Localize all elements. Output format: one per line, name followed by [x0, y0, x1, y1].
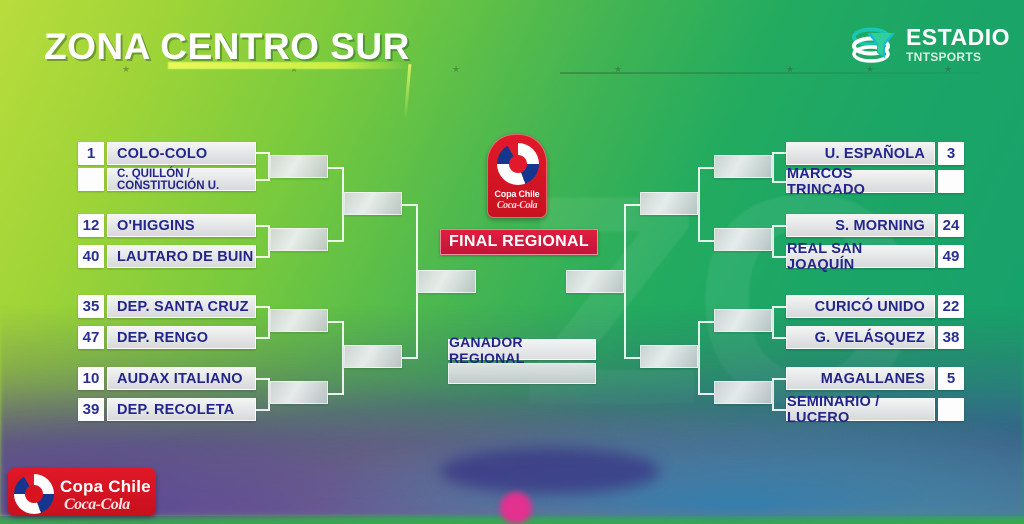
team-name: DEP. RECOLETA [107, 398, 256, 421]
star-icon: ★ [452, 66, 459, 73]
advance-slot[interactable] [344, 192, 402, 215]
team-name: AUDAX ITALIANO [107, 367, 256, 390]
estadio-stadium-icon [851, 27, 899, 63]
table-row[interactable]: 47 DEP. RENGO [78, 326, 256, 349]
connector-line [698, 167, 714, 169]
seed-number: 3 [938, 142, 964, 165]
team-name: U. ESPAÑOLA [786, 142, 935, 165]
advance-slot-final[interactable] [418, 270, 476, 293]
connector-line [624, 204, 626, 358]
seed-number: 5 [938, 367, 964, 390]
table-row[interactable]: 10 AUDAX ITALIANO [78, 367, 256, 390]
winner-slot[interactable] [448, 363, 596, 384]
connector-line [772, 152, 786, 154]
connector-line [772, 378, 786, 380]
logo-sponsor-label: Coca-Cola [488, 200, 546, 211]
advance-slot[interactable] [714, 155, 772, 178]
team-name: S. MORNING [786, 214, 935, 237]
table-row[interactable]: 24 S. MORNING [786, 214, 964, 237]
seed-number: 12 [78, 214, 104, 237]
seed-number [938, 170, 964, 193]
advance-slot[interactable] [270, 228, 328, 251]
seed-number: 49 [938, 245, 964, 268]
connector-line [624, 357, 640, 359]
connector-line [772, 225, 774, 257]
seed-number: 38 [938, 326, 964, 349]
table-row[interactable]: C. QUILLÓN / CONSTITUCIÓN U. [78, 168, 256, 191]
connector-line [698, 321, 700, 394]
table-row[interactable]: 5 MAGALLANES [786, 367, 964, 390]
table-row[interactable]: 35 DEP. SANTA CRUZ [78, 295, 256, 318]
team-name: SEMINARIO / LUCERO [786, 398, 935, 421]
table-row[interactable]: MARCOS TRINCADO [786, 170, 964, 193]
channel-brand: ESTADIO TNTSPORTS [851, 26, 1010, 63]
table-row[interactable]: 38 G. VELÁSQUEZ [786, 326, 964, 349]
background-dot [500, 492, 532, 524]
table-row[interactable]: 1 COLO-COLO [78, 142, 256, 165]
logo-name-label: Copa Chile [488, 189, 546, 199]
copa-chile-swirl-icon [14, 474, 54, 514]
background-blob [440, 448, 660, 494]
copa-chile-footer-badge: Copa Chile Coca-Cola [8, 468, 156, 516]
final-regional-banner: FINAL REGIONAL [440, 229, 598, 255]
advance-slot[interactable] [714, 228, 772, 251]
advance-slot[interactable] [640, 192, 698, 215]
connector-line [698, 167, 700, 241]
advance-slot[interactable] [344, 345, 402, 368]
connector-line [698, 321, 714, 323]
team-name: MARCOS TRINCADO [786, 170, 935, 193]
table-row[interactable]: SEMINARIO / LUCERO [786, 398, 964, 421]
connector-line [772, 306, 786, 308]
copa-chile-shield-icon: Copa Chile Coca-Cola [487, 134, 547, 218]
team-name: G. VELÁSQUEZ [786, 326, 935, 349]
table-row[interactable]: 12 O'HIGGINS [78, 214, 256, 237]
seed-number: 35 [78, 295, 104, 318]
advance-slot[interactable] [270, 155, 328, 178]
brand-primary-label: ESTADIO [906, 26, 1010, 49]
connector-line [772, 306, 774, 338]
team-name: LAUTARO DE BUIN [107, 245, 256, 268]
team-name: COLO-COLO [107, 142, 256, 165]
connector-line [772, 337, 786, 339]
team-name: CURICÓ UNIDO [786, 295, 935, 318]
connector-line [772, 409, 786, 411]
seed-number: 39 [78, 398, 104, 421]
seed-number [938, 398, 964, 421]
brand-secondary-label: TNTSPORTS [906, 51, 1010, 63]
seed-number: 24 [938, 214, 964, 237]
connector-line [772, 256, 786, 258]
advance-slot[interactable] [640, 345, 698, 368]
team-name: C. QUILLÓN / CONSTITUCIÓN U. [107, 168, 256, 191]
seed-number [78, 168, 104, 191]
connector-line [772, 378, 774, 410]
team-name: DEP. RENGO [107, 326, 256, 349]
connector-line [772, 225, 786, 227]
advance-slot[interactable] [714, 309, 772, 332]
connector-line [624, 204, 640, 206]
brand-text: ESTADIO TNTSPORTS [906, 26, 1010, 63]
copa-chile-swirl-icon [497, 143, 539, 185]
team-name: O'HIGGINS [107, 214, 256, 237]
advance-slot[interactable] [270, 381, 328, 404]
seed-number: 10 [78, 367, 104, 390]
footer-badge-sponsor: Coca-Cola [64, 496, 130, 514]
team-name: REAL SAN JOAQUÍN [786, 245, 935, 268]
decorative-hairline [560, 72, 980, 74]
connector-line [698, 240, 714, 242]
title-underline [168, 62, 410, 69]
table-row[interactable]: 3 U. ESPAÑOLA [786, 142, 964, 165]
connector-line [698, 393, 714, 395]
seed-number: 1 [78, 142, 104, 165]
advance-slot-final[interactable] [566, 270, 624, 293]
table-row[interactable]: 49 REAL SAN JOAQUÍN [786, 245, 964, 268]
connector-line [772, 152, 774, 182]
seed-number: 40 [78, 245, 104, 268]
seed-number: 22 [938, 295, 964, 318]
footer-badge-name: Copa Chile [60, 477, 151, 497]
advance-slot[interactable] [270, 309, 328, 332]
team-name: DEP. SANTA CRUZ [107, 295, 256, 318]
table-row[interactable]: 40 LAUTARO DE BUIN [78, 245, 256, 268]
seed-number: 47 [78, 326, 104, 349]
team-name: MAGALLANES [786, 367, 935, 390]
winner-label: GANADOR REGIONAL [448, 339, 596, 360]
connector-line [772, 181, 786, 183]
table-row[interactable]: 39 DEP. RECOLETA [78, 398, 256, 421]
advance-slot[interactable] [714, 381, 772, 404]
table-row[interactable]: 22 CURICÓ UNIDO [786, 295, 964, 318]
